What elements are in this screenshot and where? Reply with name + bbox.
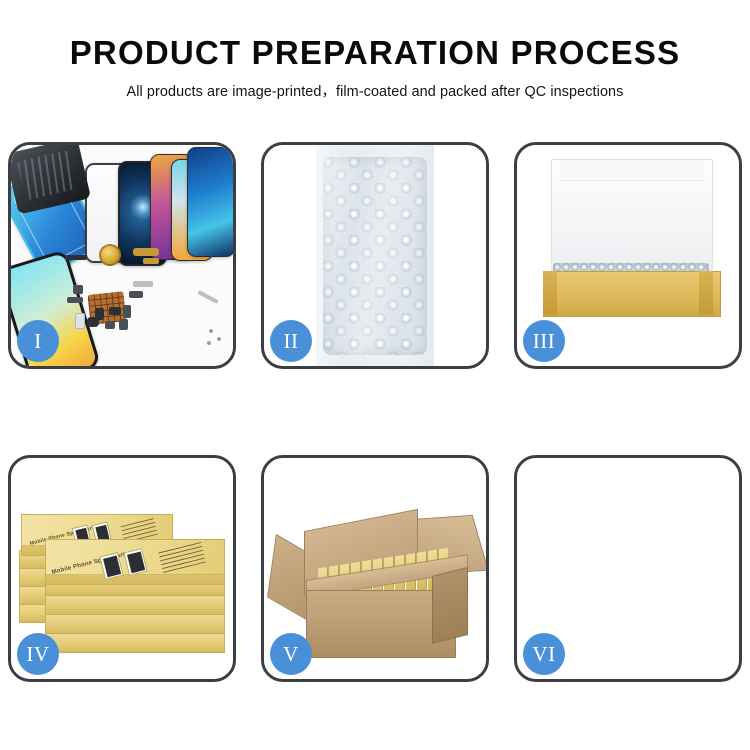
step-panel-5[interactable]: V [261, 455, 489, 682]
stacked-box-r2 [45, 595, 225, 615]
step-panel-2[interactable]: II [261, 142, 489, 369]
page-title: PRODUCT PREPARATION PROCESS [0, 0, 750, 71]
part-bracket-2 [129, 291, 143, 298]
step-panel-4[interactable]: Mobile Phone Spare Parts Mobile Phone Sp… [8, 455, 236, 682]
part-battery-tab [119, 319, 128, 330]
part-strip-1 [65, 255, 87, 260]
step-badge-3: III [523, 320, 565, 362]
header: PRODUCT PREPARATION PROCESS All products… [0, 0, 750, 101]
part-chip-1 [73, 285, 83, 294]
part-vibrator [105, 321, 115, 329]
box-fold-right [699, 271, 713, 315]
flex-cable-1 [133, 248, 159, 256]
step-badge-1: I [17, 320, 59, 362]
step-panel-1[interactable]: I [8, 142, 236, 369]
step-badge-2: II [270, 320, 312, 362]
kraft-box-body [543, 271, 721, 317]
stacked-box-top-front: Mobile Phone Spare Parts [45, 539, 225, 585]
product-preparation-infographic: PRODUCT PREPARATION PROCESS All products… [0, 0, 750, 750]
part-chip-2 [67, 297, 83, 303]
part-camera [109, 307, 121, 315]
stacked-box-r3 [45, 614, 225, 634]
part-bracket-1 [133, 281, 153, 287]
speaker-coil [99, 244, 121, 266]
box-fold-left [543, 271, 557, 315]
screw-2 [217, 337, 221, 341]
step-panel-3[interactable]: III [514, 142, 742, 369]
carton-side-face [432, 567, 468, 644]
stacked-box-r4 [45, 633, 225, 653]
step-panel-6[interactable]: VI [514, 455, 742, 682]
phone-display-wave [187, 147, 233, 257]
part-speaker [87, 317, 99, 327]
page-subtitle: All products are image-printed，film-coat… [0, 71, 750, 101]
bubble-wrap-sheet [323, 157, 427, 355]
part-connector [123, 305, 131, 318]
step-badge-5: V [270, 633, 312, 675]
sim-tray [75, 313, 85, 329]
step-badge-6: VI [523, 633, 565, 675]
screw-1 [209, 329, 213, 333]
step-badge-4: IV [17, 633, 59, 675]
carton-top-face [537, 484, 699, 550]
screw-3 [207, 341, 211, 345]
flex-cable-2 [143, 258, 159, 264]
steps-grid: I II III [8, 142, 742, 682]
tweezers [197, 290, 218, 304]
